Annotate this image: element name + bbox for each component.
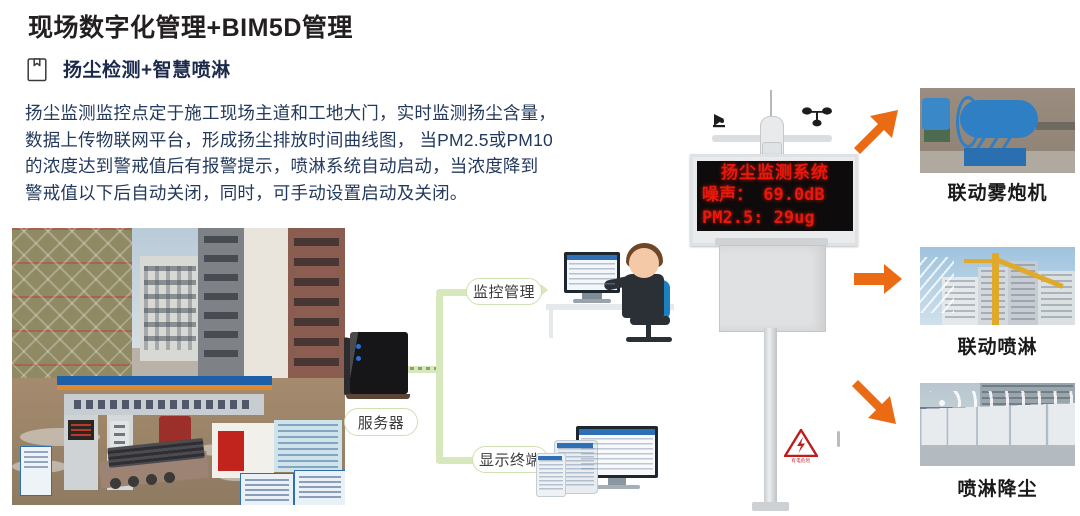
arrow-right-icon — [852, 262, 904, 301]
server-base — [346, 394, 410, 399]
photo-gate-roof — [57, 376, 272, 385]
terminal-monitor-stand — [608, 478, 626, 485]
cabinet-handle — [837, 431, 840, 447]
photo-gate-signband — [64, 394, 264, 415]
phone-titlebar — [538, 456, 562, 460]
wire-segment — [436, 457, 476, 464]
arrow-down-right-icon — [846, 374, 902, 435]
chair-base — [626, 337, 672, 342]
photo-wheel — [128, 476, 139, 487]
wire-dash — [410, 367, 438, 370]
control-cabinet: 有电危险 — [719, 245, 826, 332]
terminal-monitor-titlebar — [579, 429, 655, 435]
server-tower-icon — [350, 332, 408, 394]
arrow-up-right-icon — [848, 104, 904, 165]
fog-cannon-base — [964, 148, 1026, 166]
photo-building-grey — [198, 228, 244, 378]
server-led-icon — [356, 356, 361, 361]
construction-site-photo — [12, 228, 345, 505]
server-label: 服务器 — [344, 408, 418, 436]
photo-wheel — [146, 474, 157, 485]
thumb-ground — [920, 445, 1075, 466]
photo-wheel — [110, 478, 121, 489]
tower-crane-counterjib — [964, 259, 994, 263]
fog-cannon-ring — [956, 96, 980, 148]
operator-head — [629, 248, 659, 278]
photo-building-white — [140, 256, 200, 361]
wire-arrowhead — [541, 284, 548, 296]
network-diagram: 服务器 监控管理 显示终端 — [330, 248, 690, 510]
monitor-foot — [573, 299, 611, 303]
led-line-title: 扬尘监测系统 — [702, 163, 848, 184]
photo-gate-trim — [57, 385, 272, 390]
monitor-management-label: 监控管理 — [466, 278, 542, 305]
photo-led-board — [68, 420, 94, 440]
caption-fog-cannon: 联动雾炮机 — [920, 178, 1075, 205]
caption-linked-spray: 联动喷淋 — [920, 332, 1075, 359]
spray-mist — [920, 257, 954, 313]
server-led-icon — [356, 344, 361, 349]
chair-seat — [630, 316, 670, 325]
body-paragraph: 扬尘监测监控点定于施工现场主道和工地大门，实时监测扬尘含量， 数据上传物联网平台… — [25, 100, 645, 206]
led-display-panel: 扬尘监测系统 噪声： 69.0dB PM2.5: 29ug — [690, 154, 858, 246]
tower-crane-spray-photo — [920, 247, 1075, 325]
paragraph-line-3: 的浓度达到警戒值后有报警提示，喷淋系统自动启动，当浓度降到 — [25, 153, 645, 180]
thumb-machine-blue — [922, 98, 950, 130]
led-line-noise: 噪声： 69.0dB — [702, 185, 848, 206]
tower-crane-mast — [992, 253, 999, 325]
section-heading: 扬尘检测+智慧喷淋 — [27, 55, 231, 82]
photo-building-cream — [244, 228, 288, 388]
photo-wheel — [164, 472, 175, 483]
wind-vane-icon — [712, 110, 738, 132]
monitor-content-rows — [569, 263, 615, 287]
section-heading-label: 扬尘检测+智慧喷淋 — [63, 55, 231, 82]
page-title: 现场数字化管理+BIM5D管理 — [28, 8, 353, 44]
cabinet-warning-label: 有电危险 — [782, 458, 820, 464]
caption-dust-suppression: 喷淋降尘 — [920, 474, 1075, 501]
tablet-titlebar — [557, 443, 593, 448]
anemometer-icon — [802, 106, 832, 132]
monitor-titlebar — [567, 255, 617, 260]
slide-root: 现场数字化管理+BIM5D管理 扬尘检测+智慧喷淋 扬尘监测监控点定于施工现场主… — [0, 0, 1080, 516]
led-line-pm25: PM2.5: 29ug — [702, 208, 848, 229]
desk-leg — [549, 310, 553, 338]
clipboard-icon — [27, 56, 47, 82]
paragraph-line-2: 数据上传物联网平台，形成扬尘排放时间曲线图， 当PM2.5或PM10 — [25, 127, 645, 154]
dust-monitoring-station: 扬尘监测系统 噪声： 69.0dB PM2.5: 29ug 有电危险 — [690, 90, 860, 516]
paragraph-line-4: 警戒值以下后自动关闭，同时，可手动设置启动及关闭。 — [25, 180, 645, 207]
photo-info-board — [20, 446, 52, 496]
led-screen: 扬尘监测系统 噪声： 69.0dB PM2.5: 29ug — [697, 161, 853, 231]
photo-info-board — [240, 473, 294, 505]
antenna-icon — [770, 90, 772, 118]
paragraph-line-1: 扬尘监测监控点定于施工现场主道和工地大门，实时监测扬尘含量， — [25, 100, 645, 127]
pole-base — [752, 502, 789, 511]
thumb-bench — [1036, 122, 1075, 130]
fog-cannon-photo — [920, 88, 1075, 173]
wire-segment — [436, 292, 443, 464]
terminal-monitor-foot — [596, 485, 640, 489]
pole-lower-section — [764, 328, 777, 508]
electrical-hazard-icon — [784, 429, 818, 457]
fence-misting-photo — [920, 383, 1075, 466]
photo-party-board — [212, 423, 274, 478]
